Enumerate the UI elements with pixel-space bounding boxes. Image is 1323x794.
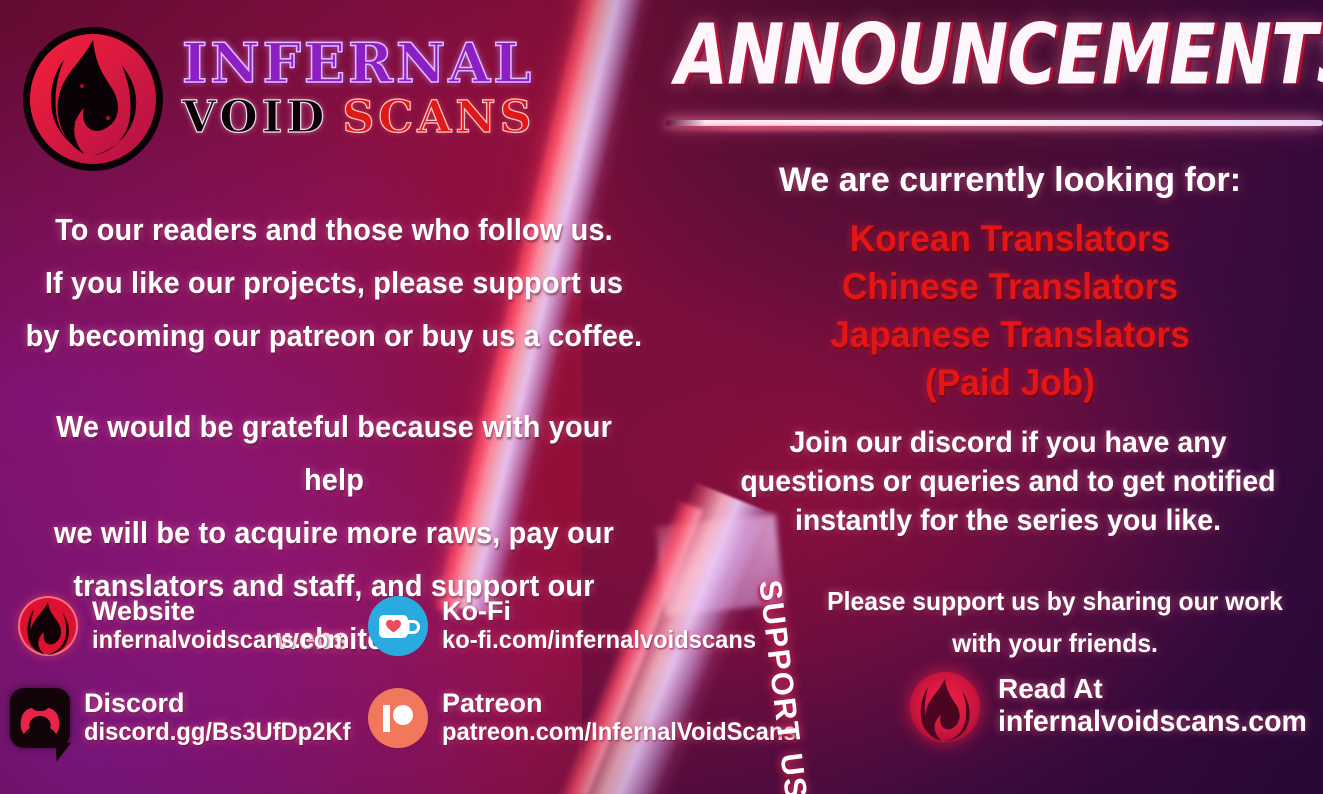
read-at-title: Read At [998,674,1323,704]
right-panel: ANNOUNCEMENTS We are currently looking f… [660,0,1323,794]
brand-wordmark: INFERNAL VOIDSCANS [182,36,612,140]
brand-word-scans: SCANS [342,92,535,143]
kofi-cup-icon [368,596,428,656]
paragraph-1: To our readers and those who follow us. … [0,203,668,362]
discord-note-line-2: questions or queries and to get notified [733,462,1284,501]
social-text-website: Website infernalvoidscans.com [92,597,363,655]
role-item-paid-job: (Paid Job) [744,359,1276,407]
discord-icon [10,688,70,748]
looking-for-heading: We are currently looking for: [730,160,1290,200]
share-note-line-1: Please support us by sharing our work [813,580,1298,622]
announcement-banner: INFERNAL VOIDSCANS To our readers and th… [0,0,1323,794]
read-at-text: Read At infernalvoidscans.com [998,674,1323,740]
share-note: Please support us by sharing our work wi… [800,580,1310,664]
read-at-link[interactable]: Read At infernalvoidscans.com [910,672,1323,742]
brand-header: INFERNAL VOIDSCANS [14,22,614,172]
role-item-chinese: Chinese Translators [744,263,1276,311]
flame-logo-icon [18,596,78,656]
flame-logo-icon [910,672,980,742]
paragraph-1-line-2: If you like our projects, please support… [23,256,644,309]
role-item-korean: Korean Translators [744,215,1276,263]
discord-note: Join our discord if you have any questio… [718,423,1298,540]
left-panel: INFERNAL VOIDSCANS To our readers and th… [0,0,672,794]
paragraph-spacer [0,362,668,400]
social-title-website: Website [92,597,363,625]
social-link-discord[interactable]: Discord discord.gg/Bs3UfDp2Kf [10,688,365,748]
flame-logo-icon [22,26,164,172]
paragraph-2-line-1: We would be grateful because with your h… [23,400,644,506]
open-roles-list: Korean Translators Chinese Translators J… [730,215,1290,407]
page-title: ANNOUNCEMENTS [675,14,1309,98]
discord-note-line-3: instantly for the series you like. [733,501,1284,540]
brand-line-voidscans: VOIDSCANS [182,96,612,140]
social-title-discord: Discord [84,689,365,717]
paragraph-2-line-2: we will be to acquire more raws, pay our [23,506,644,559]
social-url-discord: discord.gg/Bs3UfDp2Kf [84,717,351,747]
discord-note-line-1: Join our discord if you have any [733,423,1284,462]
read-at-url: infernalvoidscans.com [998,704,1307,740]
paragraph-1-line-3: by becoming our patreon or buy us a coff… [23,309,644,362]
social-url-website: infernalvoidscans.com [92,625,349,655]
paragraph-1-line-1: To our readers and those who follow us. [23,203,644,256]
title-underline-glow [660,126,1323,130]
brand-line-infernal: INFERNAL [182,36,612,90]
social-link-website[interactable]: Website infernalvoidscans.com [18,596,363,656]
patreon-icon [368,688,428,748]
share-note-line-2: with your friends. [813,622,1298,664]
social-text-discord: Discord discord.gg/Bs3UfDp2Kf [84,689,365,747]
role-item-japanese: Japanese Translators [744,311,1276,359]
brand-word-void: VOID [182,92,328,143]
